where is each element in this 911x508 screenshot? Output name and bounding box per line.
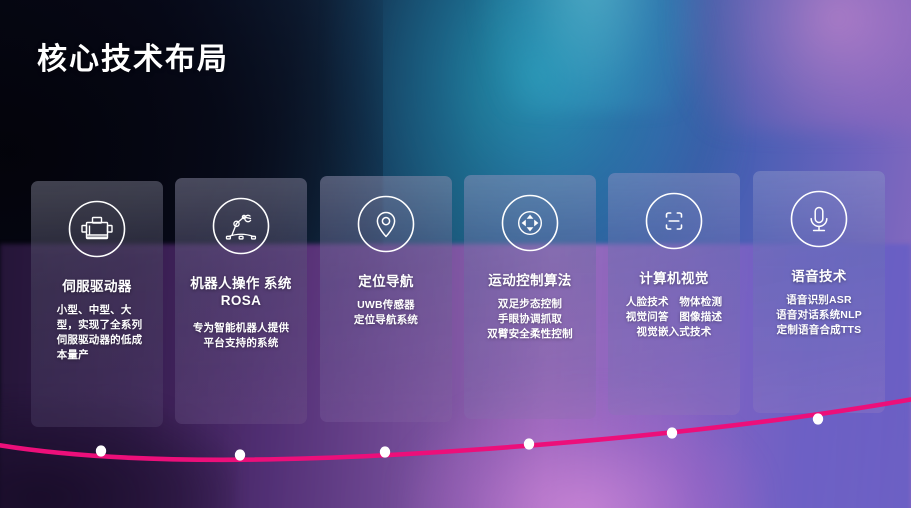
card-grid: 伺服驱动器 小型、中型、大 型，实现了全系列 伺服驱动器的低成 本量产 [0,0,911,508]
card-description: 小型、中型、大 型，实现了全系列 伺服驱动器的低成 本量产 [48,303,147,363]
card-title: 计算机视觉 [633,270,715,287]
motion-control-icon [499,192,561,254]
card-computer-vision[interactable]: 计算机视觉 人脸技术 物体检测 视觉问答 图像描述 视觉嵌入式技术 [608,173,740,415]
card-description: 语音识别ASR 语音对话系统NLP 定制语音合成TTS [771,293,867,338]
card-description: UWB传感器 定位导航系统 [349,298,423,328]
robot-arm-icon [210,195,272,257]
card-description: 双足步态控制 手眼协调抓取 双臂安全柔性控制 [482,297,578,342]
card-title: 定位导航 [352,273,420,290]
card-motion-control[interactable]: 运动控制算法 双足步态控制 手眼协调抓取 双臂安全柔性控制 [464,175,596,419]
card-robot-os[interactable]: 机器人操作 系统ROSA 专为智能机器人提供 平台支持的系统 [175,178,307,424]
card-description: 专为智能机器人提供 平台支持的系统 [188,321,294,351]
microphone-icon [788,188,850,250]
location-pin-icon [355,193,417,255]
card-description: 人脸技术 物体检测 视觉问答 图像描述 视觉嵌入式技术 [621,295,727,340]
vision-scan-icon [643,190,705,252]
card-title: 语音技术 [785,268,853,285]
card-title: 伺服驱动器 [56,278,138,295]
card-title: 机器人操作 系统ROSA [175,275,307,309]
slide-root: 核心技术布局 [0,0,911,508]
card-title: 运动控制算法 [482,272,577,289]
card-servo-drive[interactable]: 伺服驱动器 小型、中型、大 型，实现了全系列 伺服驱动器的低成 本量产 [31,181,163,427]
card-speech-technology[interactable]: 语音技术 语音识别ASR 语音对话系统NLP 定制语音合成TTS [753,171,885,413]
servo-drive-icon [66,198,128,260]
card-localization-navigation[interactable]: 定位导航 UWB传感器 定位导航系统 [320,176,452,422]
